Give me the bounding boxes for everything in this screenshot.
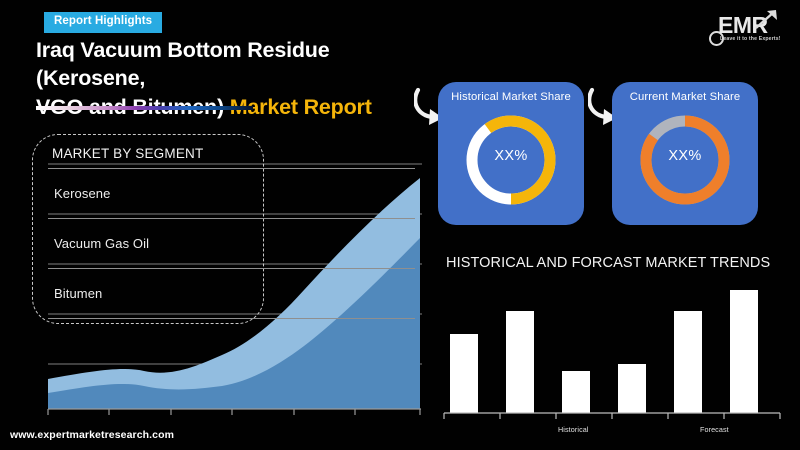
segment-item-bitumen[interactable]: Bitumen bbox=[54, 286, 102, 301]
historical-market-share-card: Historical Market Share XX% bbox=[438, 82, 584, 225]
title-gradient-rule bbox=[36, 106, 253, 110]
area-chart-ticks bbox=[48, 409, 420, 415]
market-trends-bar-chart bbox=[440, 275, 790, 425]
current-donut-value: XX% bbox=[612, 148, 758, 164]
footer-url[interactable]: www.expertmarketresearch.com bbox=[10, 429, 174, 441]
current-market-share-card: Current Market Share XX% bbox=[612, 82, 758, 225]
bar-axis-label-historical: Historical bbox=[558, 425, 589, 434]
growth-arrow-icon bbox=[754, 8, 780, 30]
segment-divider bbox=[48, 268, 415, 269]
bar-2 bbox=[506, 311, 534, 413]
historical-donut-value: XX% bbox=[438, 148, 584, 164]
segment-divider bbox=[48, 218, 415, 219]
emr-logo: EMR Leave it to the Experts! bbox=[692, 6, 788, 50]
title-line-1: Iraq Vacuum Bottom Residue (Kerosene, bbox=[36, 38, 329, 90]
bar-4 bbox=[618, 364, 646, 413]
bar-1 bbox=[450, 334, 478, 413]
bar-5 bbox=[674, 311, 702, 413]
report-highlights-badge: Report Highlights bbox=[44, 12, 162, 33]
segment-divider bbox=[48, 168, 415, 169]
historical-card-title: Historical Market Share bbox=[438, 91, 584, 103]
market-by-segment-heading: MARKET BY SEGMENT bbox=[52, 146, 203, 161]
bar-axis-label-forecast: Forecast bbox=[700, 425, 729, 434]
bar-chart-ticks bbox=[444, 413, 780, 419]
bar-3 bbox=[562, 371, 590, 413]
segment-divider bbox=[48, 318, 415, 319]
market-trends-title: HISTORICAL AND FORCAST MARKET TRENDS bbox=[446, 255, 770, 271]
segment-item-vacuum-gas-oil[interactable]: Vacuum Gas Oil bbox=[54, 236, 149, 251]
current-card-title: Current Market Share bbox=[612, 91, 758, 103]
report-infographic: Report Highlights Iraq Vacuum Bottom Res… bbox=[0, 0, 800, 450]
bar-6 bbox=[730, 290, 758, 413]
segment-item-kerosene[interactable]: Kerosene bbox=[54, 186, 110, 201]
emr-tagline: Leave it to the Experts! bbox=[720, 36, 781, 42]
